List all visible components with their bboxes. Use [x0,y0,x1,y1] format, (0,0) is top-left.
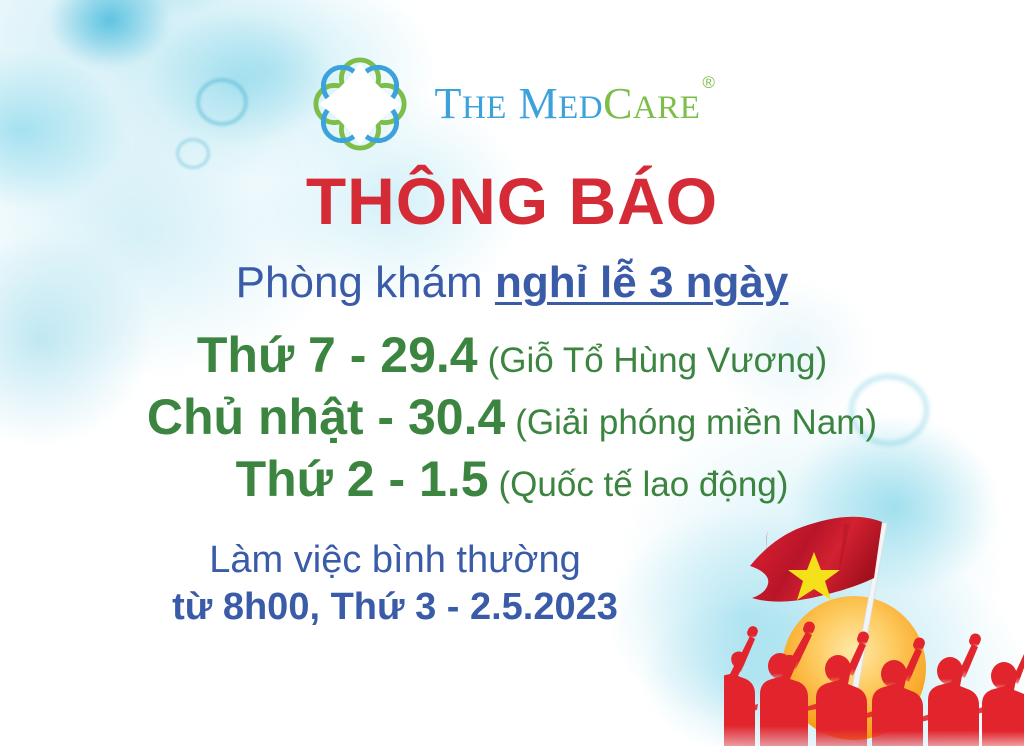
reopening-note-line2: từ 8h00, Thứ 3 - 2.5.2023 [0,585,790,630]
brand-header: THE MEDCARE® [0,55,1024,153]
cheering-crowd-silhouette-icon [724,621,1024,746]
flag-pole-icon [848,523,887,712]
wordmark-the-t: T [435,79,462,128]
wordmark-med-m: M [518,79,558,128]
reopening-note: Làm việc bình thường từ 8h00, Thứ 3 - 2.… [0,538,790,630]
subtitle-normal-text: Phòng khám [236,258,495,307]
subtitle: Phòng khám nghỉ lễ 3 ngày [0,258,1024,309]
date-note: (Giỗ Tổ Hùng Vương) [488,341,828,380]
announcement-poster: THE MEDCARE® THÔNG BÁO Phòng khám nghỉ l… [0,0,1024,746]
wordmark-care-c: C [603,79,633,128]
brand-wordmark: THE MEDCARE® [435,82,714,126]
wordmark-med-ed: ED [558,90,603,126]
date-label: Thứ 7 - 29.4 [197,327,478,383]
subtitle-emphasis-text: nghỉ lễ 3 ngày [495,258,788,307]
reopening-note-line1: Làm việc bình thường [0,538,790,583]
date-label: Chủ nhật - 30.4 [147,389,505,445]
flower-mandala-logo-icon [311,55,409,153]
date-label: Thứ 2 - 1.5 [236,451,489,507]
registered-trademark-icon: ® [702,73,715,92]
date-note: (Quốc tế lao động) [499,465,789,504]
wordmark-the-he: HE [462,90,507,126]
page-title: THÔNG BÁO [0,168,1024,234]
list-item: Chủ nhật - 30.4(Giải phóng miền Nam) [0,388,1024,447]
sun-icon [782,596,926,740]
holiday-date-list: Thứ 7 - 29.4(Giỗ Tổ Hùng Vương) Chủ nhật… [0,326,1024,512]
wordmark-care-are: ARE [633,90,701,126]
date-note: (Giải phóng miền Nam) [515,403,877,442]
list-item: Thứ 7 - 29.4(Giỗ Tổ Hùng Vương) [0,326,1024,385]
list-item: Thứ 2 - 1.5(Quốc tế lao động) [0,450,1024,509]
